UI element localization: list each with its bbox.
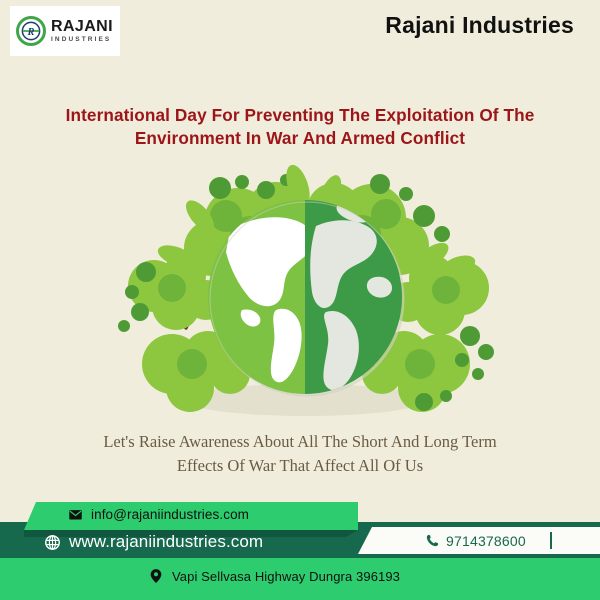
contact-phone-text: 9714378600	[446, 533, 526, 549]
poster-footer: info@rajaniindustries.com www.rajaniindu…	[0, 496, 600, 600]
contact-address[interactable]: Vapi Sellvasa Highway Dungra 396193	[148, 568, 400, 584]
brand-title: Rajani Industries	[385, 12, 574, 39]
contact-website-text: www.rajaniindustries.com	[69, 532, 263, 552]
phone-divider	[550, 532, 552, 549]
svg-text:R: R	[26, 27, 34, 38]
globe-icon	[44, 534, 61, 551]
page-title: International Day For Preventing The Exp…	[45, 104, 555, 150]
contact-email-text: info@rajaniindustries.com	[91, 507, 249, 522]
location-pin-icon	[148, 568, 164, 584]
logo-subtitle: INDUSTRIES	[51, 37, 113, 44]
poster-canvas: R RAJANI INDUSTRIES Rajani Industries In…	[0, 0, 600, 600]
phone-icon	[425, 533, 440, 548]
green-earth-with-trees-illustration	[80, 160, 530, 435]
logo-title: RAJANI	[51, 19, 113, 35]
contact-address-text: Vapi Sellvasa Highway Dungra 396193	[172, 569, 400, 584]
logo-wordmark: RAJANI INDUSTRIES	[51, 19, 113, 44]
poster-header: R RAJANI INDUSTRIES Rajani Industries	[0, 0, 600, 62]
envelope-icon	[68, 507, 83, 522]
contact-website[interactable]: www.rajaniindustries.com	[44, 532, 263, 552]
contact-email[interactable]: info@rajaniindustries.com	[68, 507, 249, 522]
rajani-circular-r-emblem-icon: R	[16, 16, 46, 46]
company-logo: R RAJANI INDUSTRIES	[10, 6, 120, 56]
contact-phone[interactable]: 9714378600	[425, 532, 552, 549]
tagline: Let's Raise Awareness About All The Shor…	[100, 430, 500, 478]
